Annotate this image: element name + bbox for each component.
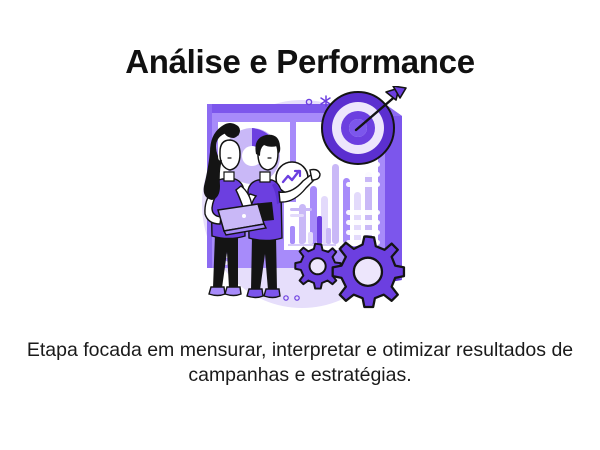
slide-caption: Etapa focada em mensurar, interpretar e … <box>20 316 580 388</box>
illustration-svg <box>180 86 420 316</box>
gear-large <box>333 237 404 307</box>
analytics-dashboard-illustration <box>180 86 420 316</box>
page-title: Análise e Performance <box>125 0 475 80</box>
slide-root: Análise e Performance <box>0 0 600 450</box>
